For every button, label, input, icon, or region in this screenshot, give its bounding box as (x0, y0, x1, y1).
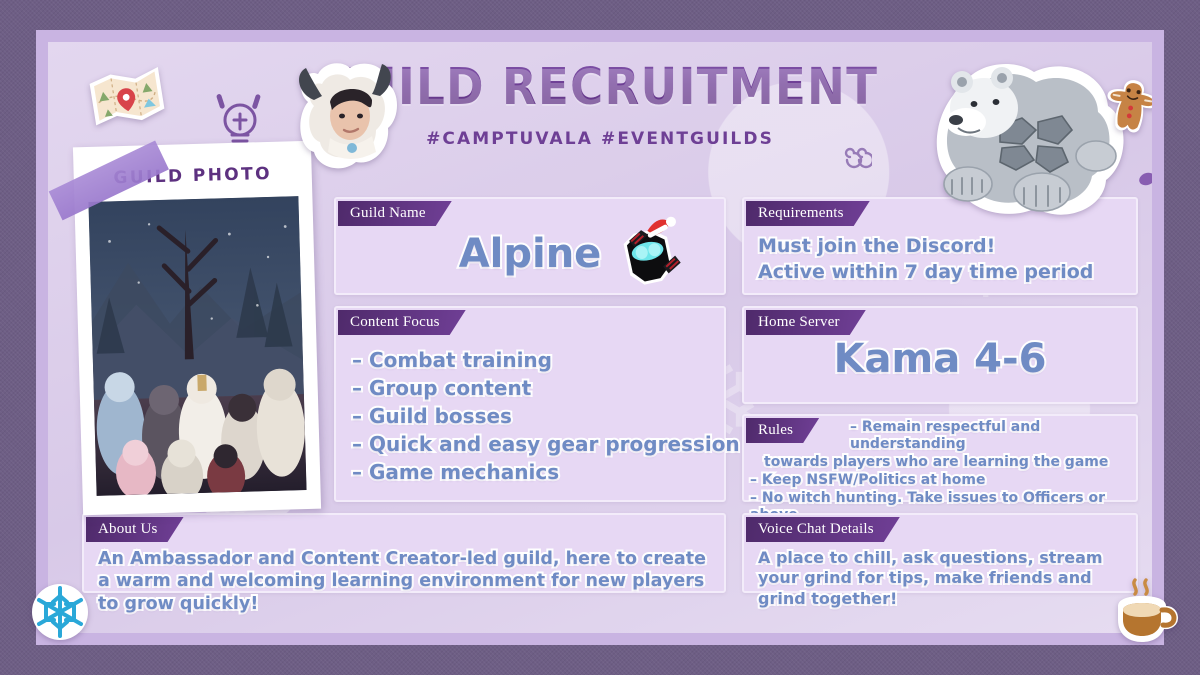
about-us-card: About Us An Ambassador and Content Creat… (82, 513, 726, 593)
about-us-text: An Ambassador and Content Creator-led gu… (98, 548, 714, 615)
bullet-dash: – (352, 432, 362, 456)
home-server-value: Kama 4-6 (744, 336, 1136, 382)
guild-name-card: Guild Name Alpine (334, 197, 726, 295)
content-focus-card: Content Focus – Combat training – Group … (334, 306, 726, 502)
requirement-line: Active within 7 day time period (758, 261, 1093, 283)
home-server-tag: Home Server (746, 310, 866, 335)
bullet-dash: – (352, 460, 362, 484)
about-us-tag: About Us (86, 517, 184, 542)
poster-panel: ❄ ❄ ❄ GUILD RECRUITMENT #CAMPTUVALA #EVE… (48, 42, 1152, 633)
content-focus-item: – Quick and easy gear progression (352, 432, 740, 456)
content-focus-item-label: Combat training (369, 348, 552, 372)
bullet-dash: – (352, 348, 362, 372)
requirements-list: Must join the Discord! Active within 7 d… (758, 235, 1093, 283)
santa-hat-character-icon (612, 213, 686, 291)
bullet-dash: – (352, 404, 362, 428)
snowflake-sticker (28, 580, 92, 644)
rule-item: – Keep NSFW/Politics at home (750, 472, 1132, 489)
guild-photo-card: GUILD PHOTO (73, 141, 321, 516)
voice-chat-tag: Voice Chat Details (746, 517, 900, 542)
content-focus-tag: Content Focus (338, 310, 466, 335)
guild-name-tag: Guild Name (338, 201, 452, 226)
hooded-character-sticker (284, 56, 408, 180)
voice-chat-card: Voice Chat Details A place to chill, ask… (742, 513, 1138, 593)
rule-item-continuation: towards players who are learning the gam… (750, 454, 1132, 471)
requirements-tag: Requirements (746, 201, 870, 226)
guild-photo-artwork (88, 196, 306, 496)
content-focus-item: – Guild bosses (352, 404, 740, 428)
home-server-card: Home Server Kama 4-6 (742, 306, 1138, 404)
coffee-cup-sticker (1108, 576, 1180, 648)
bullet-dash: – (352, 376, 362, 400)
content-focus-item-label: Game mechanics (369, 460, 559, 484)
content-focus-item: – Game mechanics (352, 460, 740, 484)
rules-card: Rules – Remain respectful and understand… (742, 414, 1138, 502)
requirement-line: Must join the Discord! (758, 235, 1093, 257)
poster-frame: ❄ ❄ ❄ GUILD RECRUITMENT #CAMPTUVALA #EVE… (36, 30, 1164, 645)
content-focus-item-label: Guild bosses (369, 404, 512, 428)
map-sticker (86, 64, 170, 128)
content-focus-item-label: Quick and easy gear progression (369, 432, 740, 456)
voice-chat-text: A place to chill, ask questions, stream … (758, 548, 1126, 609)
guild-photo-image (88, 196, 306, 496)
content-focus-item: – Combat training (352, 348, 740, 372)
music-note-doodle (1138, 150, 1152, 188)
polar-bear-sticker (918, 52, 1134, 228)
content-focus-list: – Combat training – Group content – Guil… (352, 348, 740, 484)
content-focus-item: – Group content (352, 376, 740, 400)
content-focus-item-label: Group content (369, 376, 531, 400)
gingerbread-man-sticker (1104, 78, 1152, 134)
